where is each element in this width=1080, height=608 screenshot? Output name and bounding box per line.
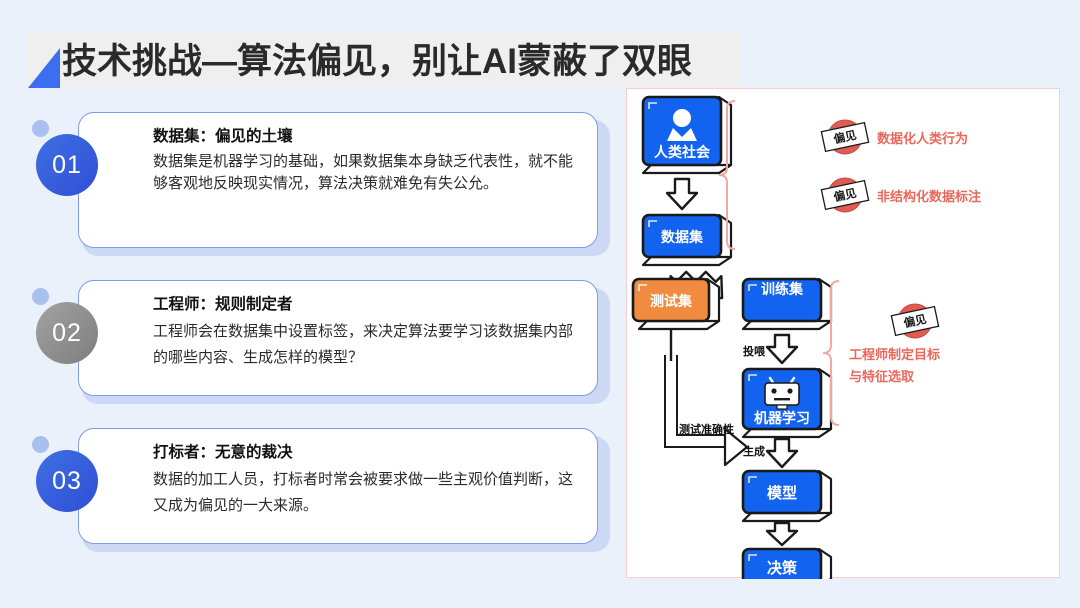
card-title: 打标者：无意的裁决 <box>153 443 579 464</box>
flow-node-label: 机器学习 <box>754 410 810 426</box>
arrow-down-icon <box>667 179 697 209</box>
flow-node-label: 决策 <box>767 559 798 577</box>
bias-stamp-icon-3: 偏见 <box>891 304 938 338</box>
bullet-dot-icon <box>32 436 49 453</box>
bullet-dot-icon <box>32 120 49 137</box>
edge-label-test-accuracy: 测试准确性 <box>679 422 734 436</box>
flow-node-test-set[interactable]: 测试集 <box>633 279 719 329</box>
flow-node-human-society[interactable]: 人类社会 <box>643 97 731 173</box>
flow-node-label: 测试集 <box>650 293 693 309</box>
flow-node-train-set[interactable]: 训练集 <box>743 279 831 329</box>
card-01[interactable]: 数据集：偏见的土壤 数据集是机器学习的基础，如果数据集本身缺乏代表性，就不能够客… <box>78 112 598 248</box>
flow-node-label: 人类社会 <box>654 144 711 160</box>
bias-note-3: 工程师制定目标 <box>849 347 940 362</box>
flow-node-label: 模型 <box>767 484 797 502</box>
bias-note-4: 与特征选取 <box>849 369 915 384</box>
bullet-dot-icon <box>32 288 49 305</box>
flow-node-dataset[interactable]: 数据集 <box>643 215 731 265</box>
card-body: 工程师会在数据集中设置标签，来决定算法要学习该数据集内部的哪些内容、生成怎样的模… <box>153 319 579 372</box>
title-accent-triangle <box>28 48 60 88</box>
robot-icon <box>765 378 799 409</box>
card-02[interactable]: 工程师：规则制定者 工程师会在数据集中设置标签，来决定算法要学习该数据集内部的哪… <box>78 280 598 396</box>
feedback-arrow-icon <box>665 329 747 465</box>
flow-node-label: 训练集 <box>761 281 804 297</box>
arrow-down-icon <box>767 523 797 545</box>
flow-node-model[interactable]: 模型 <box>743 471 831 521</box>
arrow-down-icon <box>767 439 797 467</box>
bias-note-1: 数据化人类行为 <box>877 131 968 146</box>
flowchart-svg: 人类社会 数据集 偏见 数据化人类行为 <box>627 89 1061 579</box>
flow-node-machine-learning[interactable]: 机器学习 <box>743 369 831 437</box>
bias-stamp-icon-1: 偏见 <box>821 120 868 154</box>
card-title: 工程师：规则制定者 <box>153 295 579 316</box>
flow-node-label: 数据集 <box>661 229 704 245</box>
flowchart-panel: 人类社会 数据集 偏见 数据化人类行为 <box>626 88 1060 578</box>
card-number-badge: 02 <box>36 302 98 364</box>
bias-stamp-icon-2: 偏见 <box>821 178 868 212</box>
card-number-badge: 03 <box>36 450 98 512</box>
bias-note-2: 非结构化数据标注 <box>877 189 981 204</box>
arrow-down-icon <box>767 335 797 363</box>
page-title: 技术挑战—算法偏见，别让AI蒙蔽了双眼 <box>62 33 692 84</box>
flow-node-decision[interactable]: 决策 <box>743 549 831 579</box>
card-body: 数据的加工人员，打标者时常会被要求做一些主观价值判断，这又成为偏见的一大来源。 <box>153 467 579 520</box>
card-title: 数据集：偏见的土壤 <box>153 127 579 148</box>
card-03[interactable]: 打标者：无意的裁决 数据的加工人员，打标者时常会被要求做一些主观价值判断，这又成… <box>78 428 598 544</box>
card-body: 数据集是机器学习的基础，如果数据集本身缺乏代表性，就不能够客观地反映现实情况，算… <box>153 151 579 196</box>
edge-label-feed: 投喂 <box>743 344 766 358</box>
card-number-badge: 01 <box>36 134 98 196</box>
